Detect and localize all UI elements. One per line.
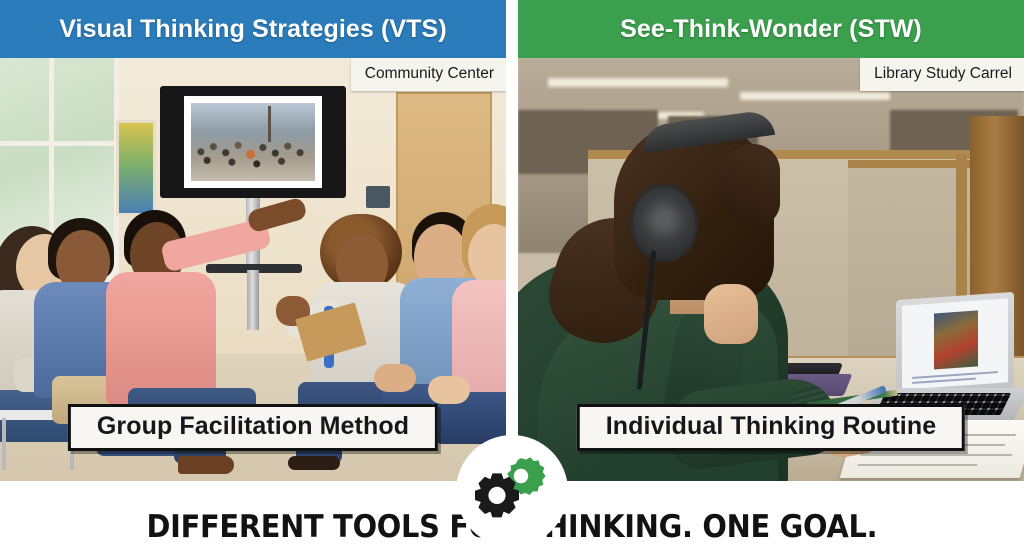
wall-art (116, 120, 156, 216)
caption-text-stw: Individual Thinking Routine (606, 412, 936, 440)
paper-line (857, 464, 978, 466)
location-tag-stw: Library Study Carrel (860, 58, 1024, 91)
chair-leg (2, 418, 6, 470)
student-resting-hand (704, 284, 758, 344)
photograph-pole (268, 106, 271, 142)
participant-3-hands (374, 364, 416, 392)
screen-text-line (912, 378, 976, 384)
comparison-panels: Visual Thinking Strategies (VTS) (0, 0, 1024, 481)
panel-stw: See-Think-Wonder (STW) (518, 0, 1024, 481)
display-stand-post (247, 270, 259, 330)
panel-vts-title: Visual Thinking Strategies (VTS) (59, 15, 447, 44)
display-screen (160, 86, 346, 198)
wall-sign (366, 186, 390, 208)
panel-stw-header: See-Think-Wonder (STW) (518, 0, 1024, 58)
panel-stw-title: See-Think-Wonder (STW) (620, 15, 922, 44)
screen-text-line (912, 371, 998, 379)
display-screen-white (184, 96, 322, 188)
participant-4-hands (428, 376, 470, 404)
ceiling-light (548, 78, 728, 87)
caption-plate-vts: Group Facilitation Method (68, 404, 438, 451)
center-gear-badge (456, 435, 568, 547)
moderator-shoe (288, 456, 340, 470)
panel-vts: Visual Thinking Strategies (VTS) (0, 0, 506, 481)
photograph-crowd (191, 126, 315, 168)
caption-plate-stw: Individual Thinking Routine (577, 404, 965, 451)
ceiling-light (740, 92, 890, 100)
artwork-on-screen (934, 310, 978, 369)
laptop-screen (902, 298, 1008, 389)
caption-text-vts: Group Facilitation Method (97, 412, 409, 440)
paper-line (860, 454, 1013, 456)
infographic-root: Visual Thinking Strategies (VTS) (0, 0, 1024, 559)
panel-vts-header: Visual Thinking Strategies (VTS) (0, 0, 506, 58)
displayed-photograph (191, 103, 315, 181)
facilitator-torso (106, 272, 216, 404)
location-tag-vts: Community Center (351, 58, 506, 91)
facilitator-shoe (178, 456, 234, 474)
laptop-lid (896, 292, 1014, 396)
